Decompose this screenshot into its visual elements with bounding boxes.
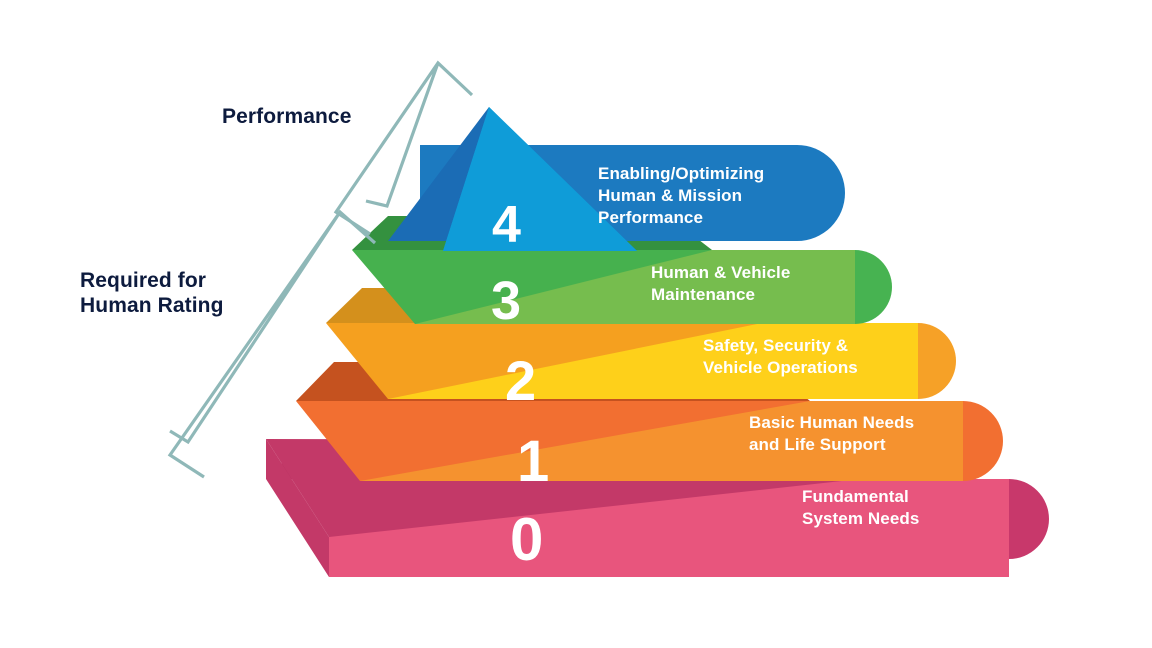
level-1-pill-label: Basic Human Needs and Life Support <box>749 412 914 456</box>
level-3-number: 3 <box>491 270 521 332</box>
level-2-pill-label: Safety, Security & Vehicle Operations <box>703 335 858 379</box>
level-4-pill-label: Enabling/Optimizing Human & Mission Perf… <box>598 163 764 229</box>
pyramid-diagram <box>0 0 1152 648</box>
level-2-number: 2 <box>505 348 536 413</box>
bracket-label-required-for-human-rating: Required for Human Rating <box>80 268 224 318</box>
level-4-number: 4 <box>492 195 521 255</box>
level-0-front-face <box>329 537 1009 577</box>
level-0-number: 0 <box>510 505 543 574</box>
diagram-canvas: Performance Required for Human Rating En… <box>0 0 1152 648</box>
level-0-pill-label: Fundamental System Needs <box>802 486 919 530</box>
bracket-label-performance: Performance <box>222 104 352 129</box>
level-3-pill-label: Human & Vehicle Maintenance <box>651 262 790 306</box>
level-1-number: 1 <box>517 428 549 495</box>
